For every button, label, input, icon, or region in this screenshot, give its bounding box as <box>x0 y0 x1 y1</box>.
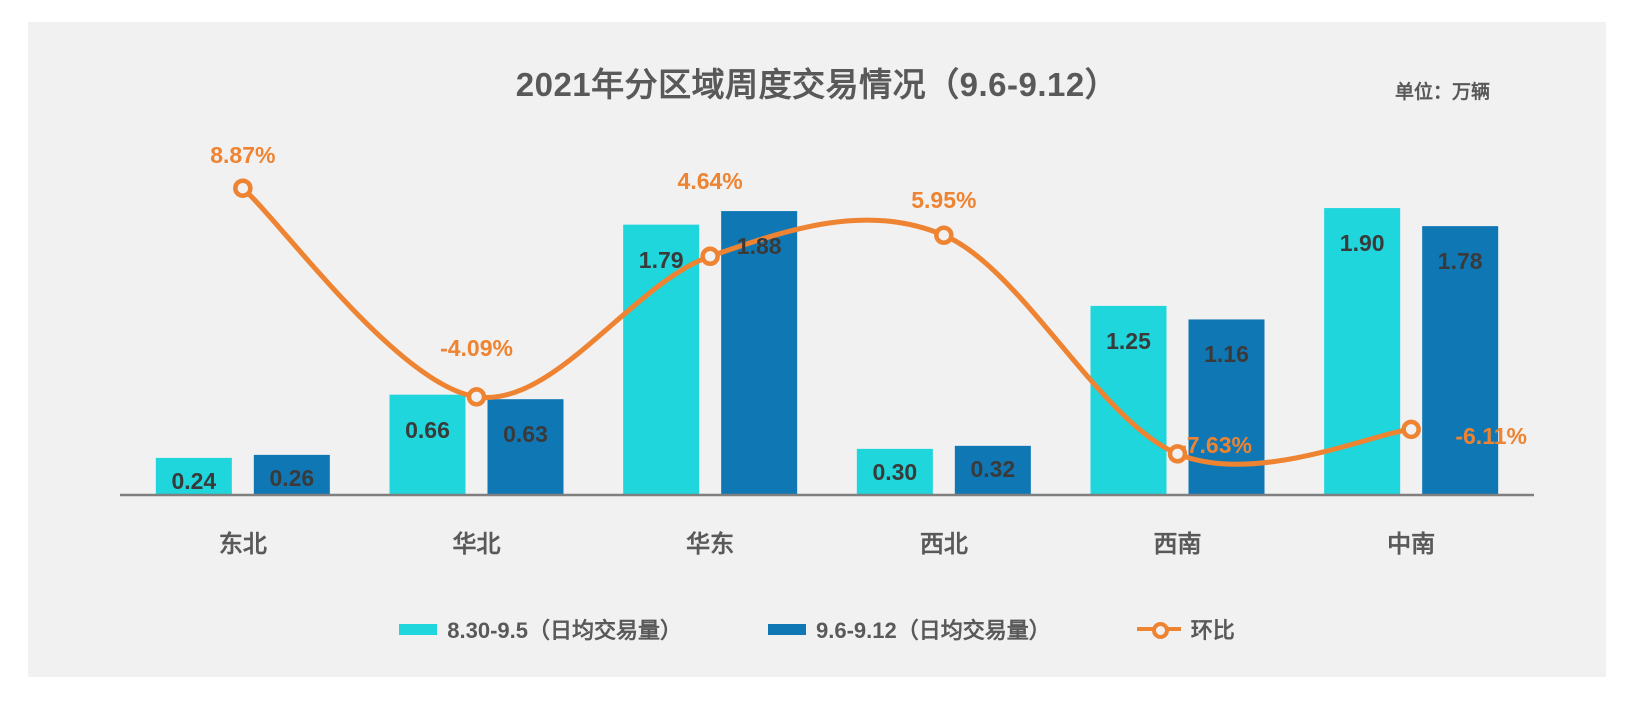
chart-legend: 8.30-9.5（日均交易量）9.6-9.12（日均交易量）环比 <box>28 613 1606 645</box>
bar-value-label: 0.32 <box>970 456 1015 483</box>
line-marker <box>936 228 951 243</box>
x-axis-label: 华北 <box>453 524 501 559</box>
line-marker <box>703 249 718 264</box>
legend-line-marker-icon <box>1137 622 1181 636</box>
legend-label: 环比 <box>1191 613 1235 645</box>
line-value-label: 4.64% <box>678 168 743 195</box>
legend-item[interactable]: 9.6-9.12（日均交易量） <box>768 613 1051 645</box>
x-axis-label: 东北 <box>219 524 267 559</box>
plot-area <box>28 22 1606 677</box>
legend-label: 8.30-9.5（日均交易量） <box>447 613 682 645</box>
legend-swatch-icon <box>399 624 437 635</box>
bar-value-label: 0.26 <box>269 465 314 492</box>
line-value-label: 8.87% <box>210 142 275 169</box>
legend-swatch-icon <box>768 624 806 635</box>
line-marker <box>469 389 484 404</box>
bar-value-label: 0.66 <box>405 417 450 444</box>
bar-series1 <box>390 395 466 494</box>
bar-value-label: 1.16 <box>1204 341 1249 368</box>
legend-label: 9.6-9.12（日均交易量） <box>816 613 1051 645</box>
bar-value-label: 1.88 <box>737 233 782 260</box>
line-marker <box>1404 422 1419 437</box>
legend-item[interactable]: 8.30-9.5（日均交易量） <box>399 613 682 645</box>
x-axis-label: 西南 <box>1154 524 1202 559</box>
legend-item[interactable]: 环比 <box>1137 613 1235 645</box>
bar-value-label: 1.90 <box>1340 230 1385 257</box>
chart-card: 2021年分区域周度交易情况（9.6-9.12） 单位：万辆 东北华北华东西北西… <box>28 22 1606 677</box>
line-value-label: -4.09% <box>440 335 513 362</box>
bar-value-label: 0.63 <box>503 421 548 448</box>
page-title: 2021年分区域周度交易情况（9.6-9.12） <box>28 58 1606 106</box>
bar-value-label: 0.24 <box>171 468 216 495</box>
bar-value-label: 1.79 <box>639 247 684 274</box>
unit-label: 单位：万辆 <box>1395 77 1490 104</box>
line-value-label: -6.11% <box>1455 423 1527 450</box>
line-value-label: -7.63% <box>1179 432 1252 459</box>
x-axis-label: 中南 <box>1387 524 1435 559</box>
bar-value-label: 0.30 <box>872 459 917 486</box>
bar-value-label: 1.25 <box>1106 328 1151 355</box>
x-axis-label: 西北 <box>920 524 968 559</box>
x-axis-label: 华东 <box>686 524 734 559</box>
bar-value-label: 1.78 <box>1438 248 1483 275</box>
line-value-label: 5.95% <box>911 187 976 214</box>
line-marker <box>235 181 250 196</box>
